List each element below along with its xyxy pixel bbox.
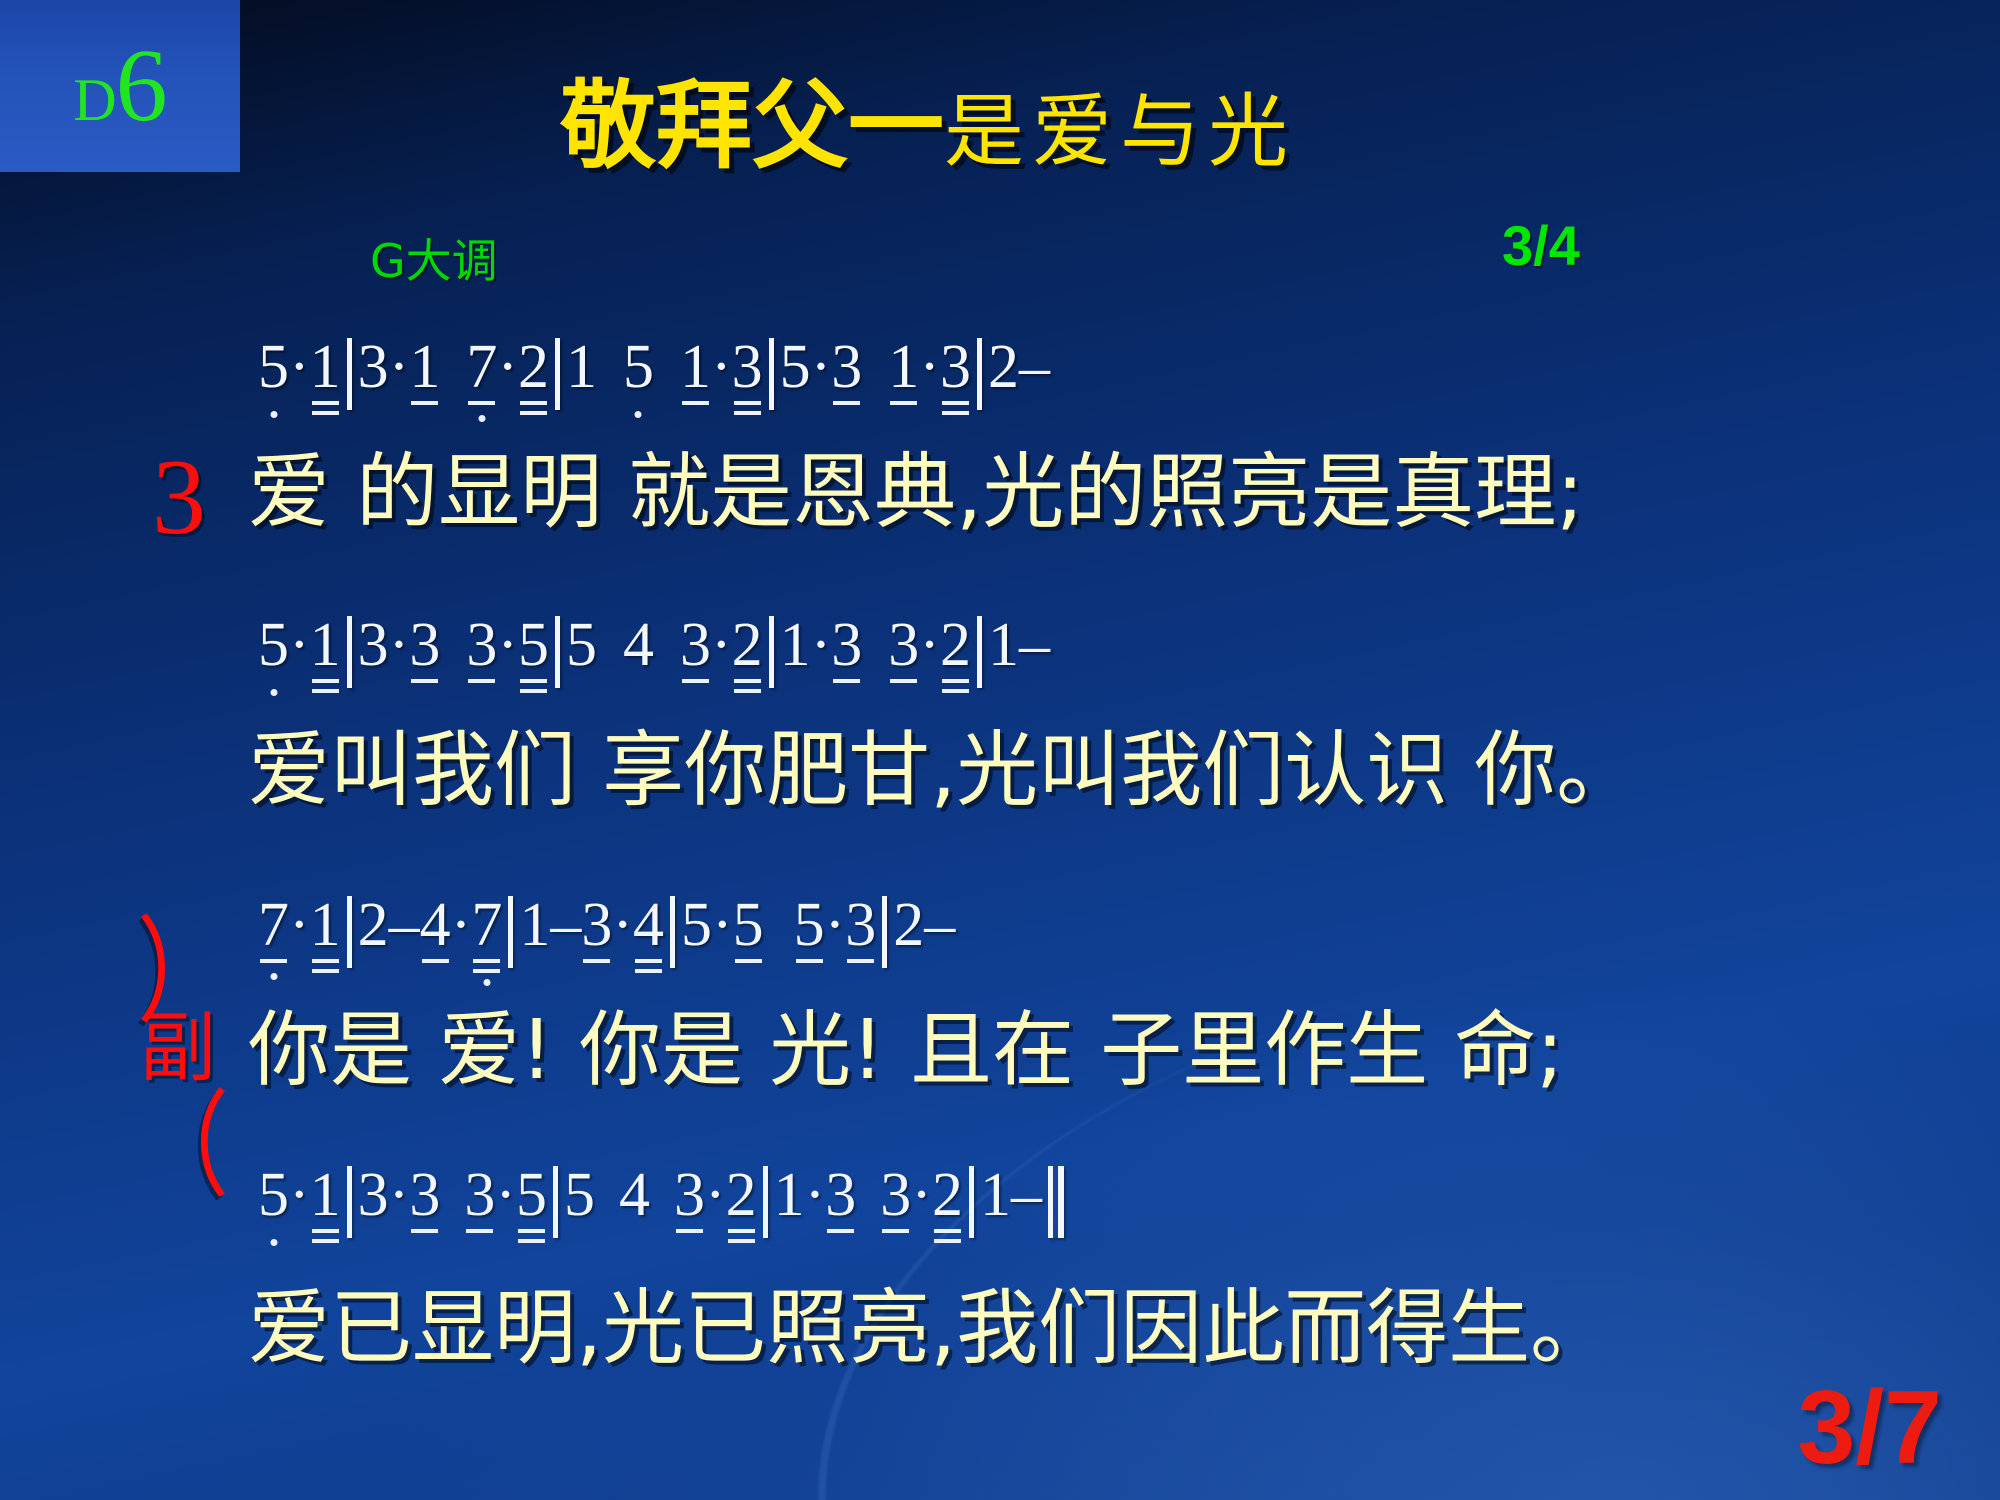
note-4: 4 <box>619 1164 650 1244</box>
note-3: 3 <box>409 1164 440 1244</box>
duration-dot: · <box>612 894 633 974</box>
notation-line-2: 5·13·33·5543·21·33·21– <box>258 608 1050 694</box>
note-2: 2 <box>518 336 549 416</box>
music-system-4: 5·13·33·5543·21·33·21– <box>258 1158 1070 1244</box>
lyrics-line-3: 你是 爱! 你是 光! 且在 子里作生 命; <box>248 1010 1564 1092</box>
note-5: 5 <box>794 894 825 974</box>
time-signature-label: 3/4 <box>1502 218 1580 274</box>
note-5: 5 <box>780 336 811 416</box>
octave-dot-low <box>270 411 277 418</box>
slide-canvas: D6 敬拜父一是爱与光 G大调 3/4 3 ︵ 副 ︶ 5·13·17·2151… <box>0 0 2000 1500</box>
music-system-3: 7·12–4·71–3·45·55·32– <box>258 888 955 974</box>
sustain-dash: – <box>389 894 420 974</box>
barline <box>769 616 774 688</box>
barline <box>347 896 352 968</box>
octave-dot-low <box>635 411 642 418</box>
note-1: 1 <box>888 336 919 416</box>
duration-dot: · <box>289 336 310 416</box>
chorus-paren-open: ︵ <box>158 908 198 1028</box>
background-swoosh-outer <box>636 771 2000 1500</box>
note-4: 4 <box>633 894 664 974</box>
note-3: 3 <box>581 894 612 974</box>
key-signature-label: G大调 <box>370 238 498 284</box>
duration-dot: · <box>289 614 310 694</box>
verse-number-marker: 3 <box>152 444 206 552</box>
duration-dot: · <box>451 894 472 974</box>
barline <box>555 616 560 688</box>
note-1: 1 <box>774 1164 805 1244</box>
note-3: 3 <box>409 614 440 694</box>
octave-dot-low <box>270 973 277 980</box>
note-3: 3 <box>845 894 876 974</box>
chorus-marker: ︵ 副 ︶ <box>130 948 226 1162</box>
note-1: 1 <box>310 614 341 694</box>
note-7: 7 <box>471 894 502 974</box>
note-3: 3 <box>358 614 389 694</box>
note-3: 3 <box>831 614 862 694</box>
octave-dot-low <box>270 689 277 696</box>
title-subtitle: 是爱与光 <box>944 85 1296 178</box>
note-4: 4 <box>420 894 451 974</box>
barline <box>882 896 887 968</box>
duration-dot: · <box>495 1164 516 1244</box>
note-2: 2 <box>358 894 389 974</box>
note-3: 3 <box>732 336 763 416</box>
note-5: 5 <box>566 614 597 694</box>
duration-dot: · <box>497 336 518 416</box>
note-2: 2 <box>893 894 924 974</box>
lyrics-line-1: 爱 的显明 就是恩典,光的照亮是真理; <box>248 452 1584 534</box>
note-5: 5 <box>623 336 654 416</box>
note-3: 3 <box>466 614 497 694</box>
badge-prefix: D <box>73 67 115 133</box>
note-1: 1 <box>310 336 341 416</box>
note-2: 2 <box>940 614 971 694</box>
note-3: 3 <box>358 336 389 416</box>
chorus-paren-close: ︶ <box>158 1082 198 1202</box>
hymn-number-badge: D6 <box>0 0 240 172</box>
note-5: 5 <box>258 336 289 416</box>
barline <box>763 1166 768 1238</box>
octave-dot-low <box>478 415 485 422</box>
notation-line-4: 5·13·33·5543·21·33·21– <box>258 1158 1070 1244</box>
note-1: 1 <box>980 1164 1011 1244</box>
barline <box>977 338 982 410</box>
note-2: 2 <box>988 336 1019 416</box>
barline <box>977 616 982 688</box>
note-5: 5 <box>516 1164 547 1244</box>
note-1: 1 <box>566 336 597 416</box>
note-7: 7 <box>258 894 289 974</box>
duration-dot: · <box>919 614 940 694</box>
page-number: 3/7 <box>1797 1376 1942 1480</box>
note-2: 2 <box>732 614 763 694</box>
note-1: 1 <box>409 336 440 416</box>
duration-dot: · <box>811 336 832 416</box>
note-1: 1 <box>519 894 550 974</box>
note-5: 5 <box>681 894 712 974</box>
octave-dot-low <box>270 1239 277 1246</box>
duration-dot: · <box>289 894 310 974</box>
note-3: 3 <box>888 614 919 694</box>
note-2: 2 <box>932 1164 963 1244</box>
octave-dot-low <box>483 979 490 986</box>
note-3: 3 <box>831 336 862 416</box>
note-1: 1 <box>310 894 341 974</box>
barline <box>347 1166 352 1238</box>
music-system-1: 5·13·17·2151·35·31·32– <box>258 330 1050 416</box>
barline <box>508 896 513 968</box>
note-3: 3 <box>825 1164 856 1244</box>
music-system-2: 5·13·33·5543·21·33·21– <box>258 608 1050 694</box>
sustain-dash: – <box>1019 614 1050 694</box>
note-3: 3 <box>880 1164 911 1244</box>
notation-line-1: 5·13·17·2151·35·31·32– <box>258 330 1050 416</box>
sustain-dash: – <box>550 894 581 974</box>
badge-text: D6 <box>73 34 166 138</box>
barline <box>769 338 774 410</box>
note-5: 5 <box>518 614 549 694</box>
barline <box>670 896 675 968</box>
note-5: 5 <box>258 1164 289 1244</box>
duration-dot: · <box>705 1164 726 1244</box>
note-1: 1 <box>680 336 711 416</box>
duration-dot: · <box>919 336 940 416</box>
note-3: 3 <box>680 614 711 694</box>
duration-dot: · <box>711 614 732 694</box>
duration-dot: · <box>289 1164 310 1244</box>
sustain-dash: – <box>924 894 955 974</box>
duration-dot: · <box>497 614 518 694</box>
duration-dot: · <box>911 1164 932 1244</box>
duration-dot: · <box>711 336 732 416</box>
barline <box>347 616 352 688</box>
note-7: 7 <box>466 336 497 416</box>
note-3: 3 <box>464 1164 495 1244</box>
sustain-dash: – <box>1011 1164 1042 1244</box>
note-3: 3 <box>940 336 971 416</box>
barline <box>555 338 560 410</box>
barline <box>347 338 352 410</box>
note-1: 1 <box>988 614 1019 694</box>
note-3: 3 <box>674 1164 705 1244</box>
page-title: 敬拜父一是爱与光 <box>560 78 1296 174</box>
duration-dot: · <box>825 894 846 974</box>
lyrics-line-4: 爱已显明,光已照亮,我们因此而得生。 <box>248 1288 1612 1370</box>
lyrics-line-2: 爱叫我们 享你肥甘,光叫我们认识 你。 <box>248 730 1638 812</box>
note-5: 5 <box>564 1164 595 1244</box>
note-3: 3 <box>358 1164 389 1244</box>
badge-number: 6 <box>116 28 167 143</box>
duration-dot: · <box>712 894 733 974</box>
duration-dot: · <box>805 1164 826 1244</box>
barline <box>553 1166 558 1238</box>
duration-dot: · <box>389 336 410 416</box>
duration-dot: · <box>389 1164 410 1244</box>
duration-dot: · <box>811 614 832 694</box>
note-1: 1 <box>780 614 811 694</box>
barline <box>969 1166 974 1238</box>
notation-line-3: 7·12–4·71–3·45·55·32– <box>258 888 955 974</box>
title-main: 敬拜父一 <box>560 70 944 182</box>
note-5: 5 <box>258 614 289 694</box>
note-5: 5 <box>733 894 764 974</box>
final-barline <box>1048 1166 1064 1238</box>
sustain-dash: – <box>1019 336 1050 416</box>
note-2: 2 <box>726 1164 757 1244</box>
duration-dot: · <box>389 614 410 694</box>
note-4: 4 <box>623 614 654 694</box>
note-1: 1 <box>310 1164 341 1244</box>
